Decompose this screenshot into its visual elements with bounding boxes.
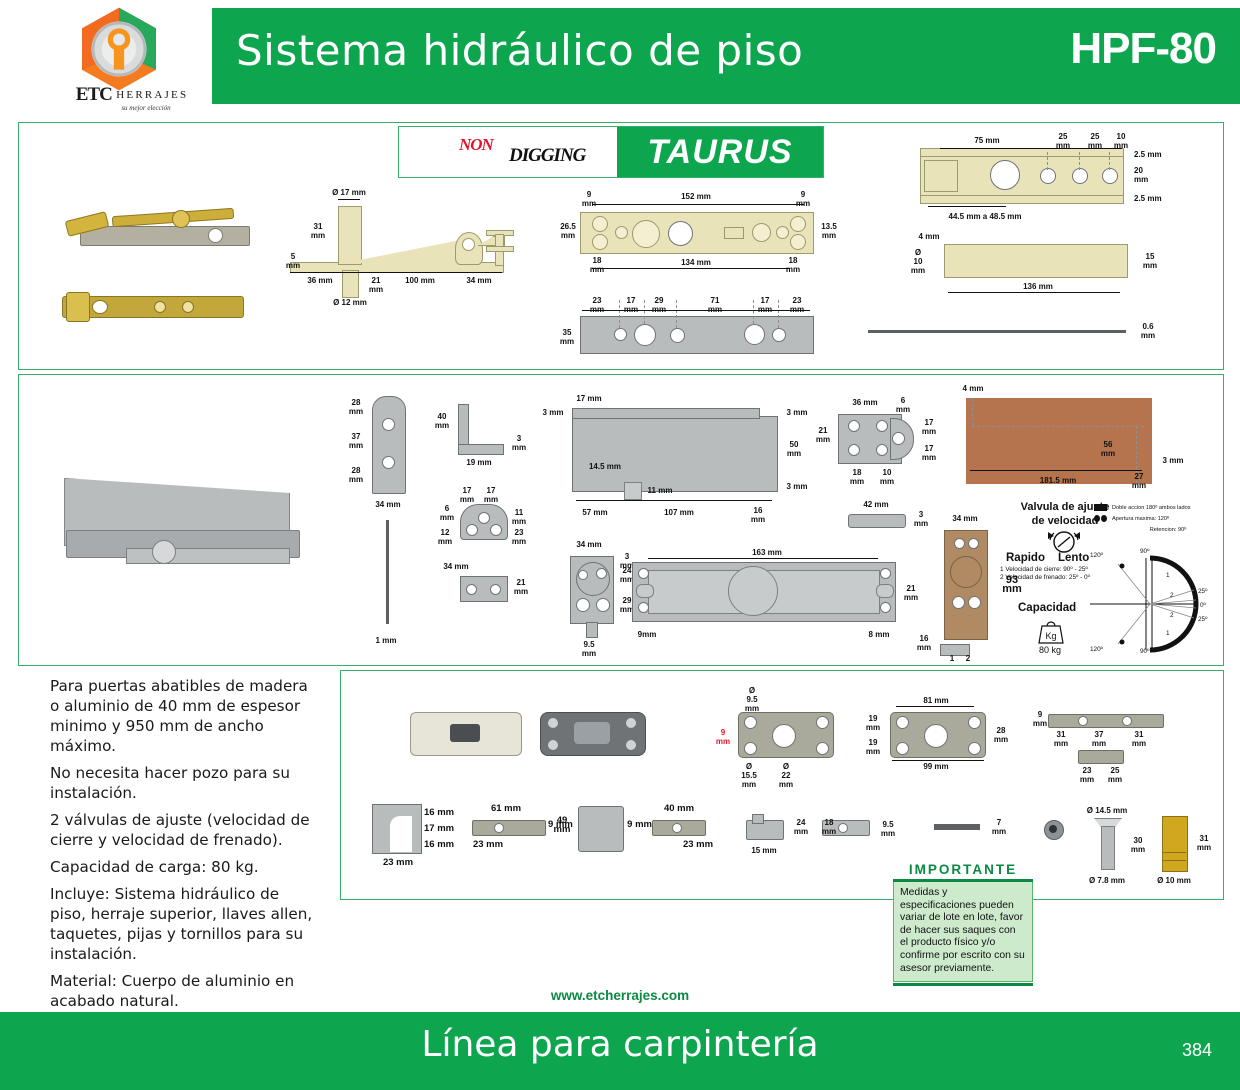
photo-pivot-assembly xyxy=(62,196,252,256)
dim-shim-h16a: 16 mm xyxy=(424,808,464,817)
dim-bs-t3c: 3 mm xyxy=(780,482,814,491)
dim-pa-d155: Ø 15.5 mm xyxy=(736,762,762,789)
logo-tagline: su mejor elección xyxy=(86,104,206,112)
dim-tr-t25a: 2.5 mm xyxy=(1134,150,1174,159)
digging-text: DIGGING xyxy=(509,145,585,167)
dim-tr-h20: 20 mm xyxy=(1134,166,1158,184)
logo-etc-text: ETC xyxy=(76,84,112,105)
dim-arm-h16: 16 mm xyxy=(912,634,936,652)
hexagon-logo-icon xyxy=(76,6,162,92)
dim-bs-w16: 16 mm xyxy=(746,506,770,524)
dim-latch-w18: 18 mm xyxy=(818,818,840,836)
dim-cover-right9: 9 mm xyxy=(792,190,814,208)
taurus-text: TAURUS xyxy=(617,127,823,177)
dim-bt-w42: 42 mm xyxy=(850,500,902,509)
dim-arm-w34: 34 mm xyxy=(942,514,988,523)
desc-line-0: Para puertas abatibles de madera o alumi… xyxy=(50,676,318,756)
dim-latch-w95: 9.5 mm xyxy=(876,820,900,838)
dim-sb-w23: 23 mm xyxy=(1076,766,1098,784)
dim-cap-t1: 1 mm xyxy=(366,636,406,645)
dim-tr-t25b: 2.5 mm xyxy=(1134,194,1174,203)
dim-tr-t4: 4 mm xyxy=(912,232,946,241)
dim-rp-h11: 11 mm xyxy=(508,508,530,526)
dim-screw-d78: Ø 7.8 mm xyxy=(1076,876,1138,885)
angle-zone-2a: 2 xyxy=(1170,592,1174,599)
photo-cover-plate xyxy=(410,702,520,764)
angle-right-25a: 25º xyxy=(1198,588,1207,595)
logo-herrajes-text: HERRAJES xyxy=(116,89,188,101)
important-notice: IMPORTANTE Medidas y especificaciones pu… xyxy=(893,862,1033,986)
dim-cap-h28a: 28 mm xyxy=(344,398,368,416)
dim-sb-w31b: 31 mm xyxy=(1128,730,1150,748)
dim-bs-w17: 17 mm xyxy=(566,394,612,403)
dim-bs-h50: 50 mm xyxy=(782,440,806,458)
dim-bs-t3a: 3 mm xyxy=(536,408,570,417)
dim-tr-w75: 75 mm xyxy=(960,136,1014,145)
dim-b49-h49: 49 mm xyxy=(550,816,574,834)
photo-mounting-plate xyxy=(540,702,644,764)
dim-strike-a17: 17 mm xyxy=(620,296,642,314)
dim-pb-w99: 99 mm xyxy=(908,762,964,771)
dim-sp-w34: 34 mm xyxy=(434,562,478,571)
valve-legend-3: Retencion: 90º xyxy=(1118,526,1218,534)
dim-dp-t4: 4 mm xyxy=(956,384,990,393)
non-digging-logo: NON DIGGING xyxy=(431,135,611,169)
logo-wordmark: ETC HERRAJES su mejor elección xyxy=(58,84,206,112)
dim-ec-w34: 34 mm xyxy=(566,540,612,549)
dim-cover-left9: 9 mm xyxy=(578,190,600,208)
dim-pivot-w36: 36 mm xyxy=(298,276,342,285)
dim-cover-h265: 26.5 mm xyxy=(556,222,580,240)
dim-pivot-d12: Ø 12 mm xyxy=(318,298,382,307)
weight-icon: Kg xyxy=(1036,618,1066,644)
dim-screw-d145: Ø 14.5 mm xyxy=(1076,806,1138,815)
valve-fast-label: Rapido xyxy=(1006,552,1045,564)
valve-legend-1: Doble accion 180º ambos lados xyxy=(1112,504,1222,512)
dim-pa-h9: 9 mm xyxy=(712,728,734,746)
dim-pivot-d17: Ø 17 mm xyxy=(316,188,382,197)
dim-ec-w95: 9.5 mm xyxy=(578,640,600,658)
important-rule-bottom xyxy=(893,983,1033,986)
dim-ang-t3: 3 mm xyxy=(508,434,530,452)
dim-sp-h21: 21 mm xyxy=(510,578,532,596)
dim-cap-h28b: 28 mm xyxy=(344,466,368,484)
dim-s40-h9: 9 mm xyxy=(612,820,652,829)
dim-strike-b17: 17 mm xyxy=(754,296,776,314)
angle-zone-1a: 1 xyxy=(1166,572,1170,579)
dim-s61-w61: 61 mm xyxy=(478,804,534,813)
dim-latch-w15: 15 mm xyxy=(742,846,786,855)
dim-tr-d10: Ø 10 mm xyxy=(908,248,928,275)
angle-right-0: 0º xyxy=(1200,602,1206,609)
dim-pb-h28: 28 mm xyxy=(990,726,1012,744)
dim-cover-w152: 152 mm xyxy=(650,192,742,201)
page-number: 384 xyxy=(1182,1040,1212,1061)
dim-pa-d22: Ø 22 mm xyxy=(774,762,798,789)
important-body: Medidas y especificaciones pueden variar… xyxy=(893,882,1033,982)
angle-top-90: 90º xyxy=(1140,548,1149,555)
dim-pivot-w34: 34 mm xyxy=(456,276,502,285)
page-header: Sistema hidráulico de piso HPF-80 ETC HE… xyxy=(0,0,1240,110)
dim-pb-h19a: 19 mm xyxy=(862,714,884,732)
product-description: Para puertas abatibles de madera o alumi… xyxy=(50,676,318,1018)
photo-floor-closer-assembly xyxy=(56,400,346,580)
legend-swatch-double-action xyxy=(1094,504,1107,511)
dim-screw-h30: 30 mm xyxy=(1126,836,1150,854)
dim-bp-h21: 21 mm xyxy=(900,584,922,602)
dim-dp-h56: 56 mm xyxy=(1096,440,1120,458)
footer-line-title: Línea para carpintería xyxy=(0,1024,1240,1065)
dim-sb-h9: 9 mm xyxy=(1030,710,1050,728)
dim-cap-w34: 34 mm xyxy=(366,500,410,509)
dim-pb-w81: 81 mm xyxy=(908,696,964,705)
valve-capacity-value: 80 kg xyxy=(1020,646,1080,654)
valve-slow-label: Lento xyxy=(1058,552,1089,564)
website-url[interactable]: www.etcherrajes.com xyxy=(0,988,1240,1003)
dim-dp-t3: 3 mm xyxy=(1156,456,1190,465)
legend-swatch-max-opening xyxy=(1094,515,1107,522)
dim-shim-w23: 23 mm xyxy=(376,858,420,867)
angle-bot-120: 120º xyxy=(1090,646,1103,653)
important-title: IMPORTANTE xyxy=(893,862,1033,877)
dim-rp-h12: 12 mm xyxy=(434,528,456,546)
dim-pivot-h31: 31 mm xyxy=(306,222,330,240)
dim-bt-w6: 6 mm xyxy=(892,396,914,414)
dim-bt-h21: 21 mm xyxy=(812,426,834,444)
dim-strike-a29: 29 mm xyxy=(648,296,670,314)
angle-zone-2b: 2 xyxy=(1170,612,1174,619)
desc-line-4: Incluye: Sistema hidráulico de piso, her… xyxy=(50,884,318,964)
dim-bt-h17a: 17 mm xyxy=(918,418,940,436)
dim-cover-w134: 134 mm xyxy=(650,258,742,267)
dim-cap-h37: 37 mm xyxy=(344,432,368,450)
dim-strike-b23: 23 mm xyxy=(786,296,808,314)
valve-title-line2: de velocidad xyxy=(1032,515,1099,527)
valve-legend-2: Apertura maxima: 120º xyxy=(1112,515,1222,523)
dim-bt-w36: 36 mm xyxy=(842,398,888,407)
dim-tr-t06: 0.6 mm xyxy=(1136,322,1160,340)
dim-bt-t3: 3 mm xyxy=(910,510,932,528)
dim-bt-w18: 18 mm xyxy=(846,468,868,486)
dim-strike-a71: 71 mm xyxy=(704,296,726,314)
dim-pa-d95: Ø 9.5 mm xyxy=(740,686,764,713)
svg-text:Kg: Kg xyxy=(1045,631,1056,641)
dim-latch-w7: 7 mm xyxy=(988,818,1010,836)
dim-arm-n2: 2 xyxy=(962,654,974,663)
angle-range-diagram xyxy=(1088,550,1212,658)
photo-pivot-plate xyxy=(62,288,242,322)
non-text: NON xyxy=(459,135,493,155)
dim-ang-w19: 19 mm xyxy=(456,458,502,467)
dim-latch-h24: 24 mm xyxy=(790,818,812,836)
dim-rp-h6: 6 mm xyxy=(436,504,458,522)
dim-shim-h17: 17 mm xyxy=(424,824,464,833)
shim-u-notch xyxy=(390,816,412,852)
dim-pivot-h5: 5 mm xyxy=(284,252,302,270)
angle-top-120: 120º xyxy=(1090,552,1103,559)
angle-bot-90: 90º xyxy=(1140,648,1149,655)
dim-bt-h17b: 17 mm xyxy=(918,444,940,462)
page-title: Sistema hidráulico de piso xyxy=(236,26,803,75)
dim-tr-h15: 15 mm xyxy=(1138,252,1162,270)
dim-bs-t3b: 3 mm xyxy=(780,408,814,417)
etc-logo: ETC HERRAJES su mejor elección xyxy=(58,6,206,106)
dim-cover-right18: 18 mm xyxy=(782,256,804,274)
dim-bs-w57: 57 mm xyxy=(570,508,620,517)
dim-tr-range: 44.5 mm a 48.5 mm xyxy=(930,212,1040,221)
dim-bs-w11: 11 mm xyxy=(640,486,680,495)
dim-rp-w17b: 17 mm xyxy=(480,486,502,504)
dim-strike-h35: 35 mm xyxy=(556,328,578,346)
angle-zone-1b: 1 xyxy=(1166,630,1170,637)
valve-capacity-label: Capacidad xyxy=(1018,602,1076,614)
dim-bp-w9: 9mm xyxy=(630,630,664,639)
desc-line-3: Capacidad de carga: 80 kg. xyxy=(50,857,318,877)
dim-rp-w17a: 17 mm xyxy=(456,486,478,504)
dim-bs-w145: 14.5 mm xyxy=(578,462,632,471)
desc-line-2: 2 válvulas de ajuste (velocidad de cierr… xyxy=(50,810,318,850)
dim-dp-w27: 27 mm xyxy=(1128,472,1150,490)
dim-s40-w40: 40 mm xyxy=(656,804,702,813)
angle-right-25b: 25º xyxy=(1198,616,1207,623)
dim-sb-w25: 25 mm xyxy=(1104,766,1126,784)
dim-arm-n1: 1 xyxy=(946,654,958,663)
dim-s61-w23: 23 mm xyxy=(466,840,510,849)
dim-sb-w31a: 31 mm xyxy=(1050,730,1072,748)
dim-cover-left18: 18 mm xyxy=(586,256,608,274)
dim-bp-w8: 8 mm xyxy=(862,630,896,639)
dim-anchor-d10: Ø 10 mm xyxy=(1146,876,1202,885)
dim-pivot-w100: 100 mm xyxy=(392,276,448,285)
taurus-brand-banner: NON DIGGING TAURUS xyxy=(398,126,824,178)
dim-dp-w1815: 181.5 mm xyxy=(1022,476,1094,485)
dim-strike-a23: 23 mm xyxy=(586,296,608,314)
dim-shim-h16b: 16 mm xyxy=(424,840,464,849)
dim-anchor-h31: 31 mm xyxy=(1192,834,1216,852)
dim-cover-h135: 13.5 mm xyxy=(816,222,842,240)
dim-bt-w10: 10 mm xyxy=(876,468,898,486)
product-code: HPF-80 xyxy=(1070,24,1216,74)
dim-rp-h23: 23 mm xyxy=(508,528,530,546)
dim-s40-w23: 23 mm xyxy=(676,840,720,849)
dim-ang-h40: 40 mm xyxy=(430,412,454,430)
dim-pb-h19b: 19 mm xyxy=(862,738,884,756)
dim-bp-w163: 163 mm xyxy=(736,548,798,557)
dim-tr-w136: 136 mm xyxy=(1008,282,1068,291)
dim-bs-w107: 107 mm xyxy=(652,508,706,517)
dim-pivot-w21: 21 mm xyxy=(364,276,388,294)
valve-screw-icon xyxy=(1040,528,1088,554)
dim-sb-w37: 37 mm xyxy=(1088,730,1110,748)
desc-line-1: No necesita hacer pozo para su instalaci… xyxy=(50,763,318,803)
